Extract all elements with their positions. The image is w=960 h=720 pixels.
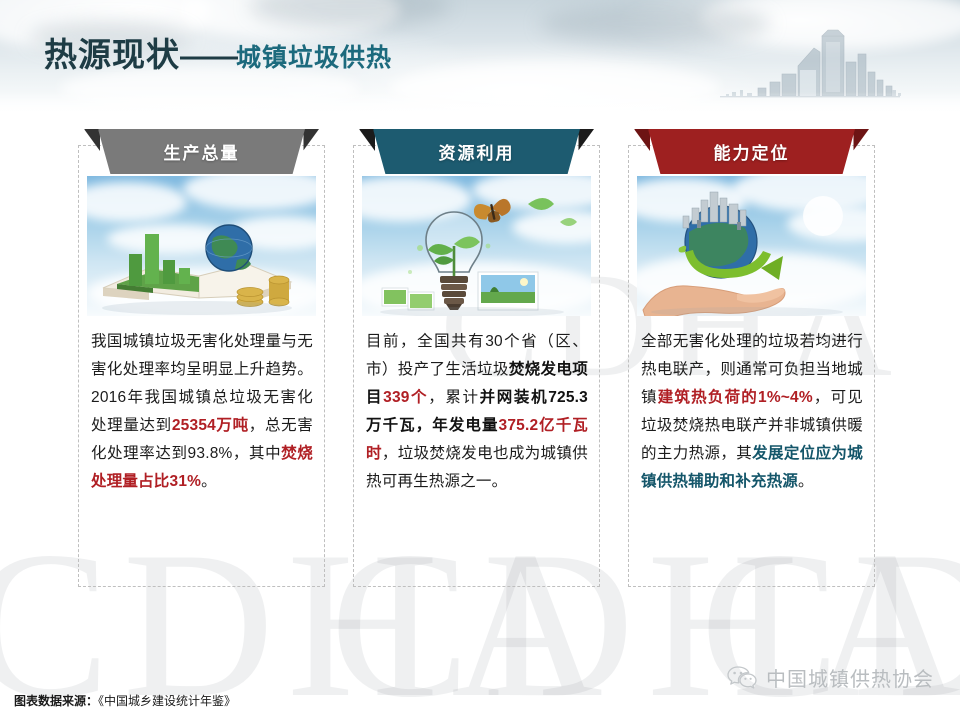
wechat-icon (727, 665, 757, 691)
wechat-credit: 中国城镇供热协会 (727, 663, 934, 692)
card-banner-label: 生产总量 (84, 129, 319, 174)
card-ribbon: 生产总量 (84, 129, 319, 174)
page-title-sub: 城镇垃圾供热 (236, 44, 392, 72)
source-value: 《中国城乡建设统计年鉴》 (98, 694, 236, 708)
text-run: ，累计 (428, 389, 479, 406)
card-banner-label: 资源利用 (359, 129, 594, 174)
text-run: 。 (798, 473, 814, 490)
card-image-production (87, 176, 316, 316)
text-run: 339个 (383, 389, 428, 406)
wechat-account-name: 中国城镇供热协会 (766, 663, 934, 692)
card-image-capability (637, 176, 866, 316)
card-body-text-production: 我国城镇垃圾无害化处理量与无害化处理率均呈明显上升趋势。2016年我国城镇总垃圾… (91, 328, 313, 496)
card-resource-utilization: 资源利用 (353, 145, 600, 587)
text-run: 建筑热负荷的1%~4% (658, 389, 813, 406)
card-body-text-capability: 全部无害化处理的垃圾若均进行热电联产，则通常可负担当地城镇建筑热负荷的1%~4%… (641, 328, 863, 496)
card-body-text-resource: 目前，全国共有30个省（区、市）投产了生活垃圾焚烧发电项目339个，累计并网装机… (366, 328, 588, 496)
card-ribbon: 资源利用 (359, 129, 594, 174)
card-banner-label: 能力定位 (634, 129, 869, 174)
card-capability-positioning: 能力定位 (628, 145, 875, 587)
card-ribbon: 能力定位 (634, 129, 869, 174)
source-label: 图表数据来源： (14, 694, 98, 708)
text-run: ，垃圾焚烧发电也成为城镇供热可再生热源之一。 (366, 445, 588, 490)
card-image-resource (362, 176, 591, 316)
card-production-total: 生产总量 (78, 145, 325, 587)
page-title: 热源现状——城镇垃圾供热 (44, 28, 392, 76)
page-title-dash: —— (180, 40, 236, 73)
banner-fade (0, 92, 960, 118)
page-title-main: 热源现状 (44, 36, 180, 73)
text-run: 。 (201, 473, 217, 490)
source-note: 图表数据来源：《中国城乡建设统计年鉴》 (14, 692, 236, 709)
text-run: 25354万吨 (172, 417, 249, 434)
